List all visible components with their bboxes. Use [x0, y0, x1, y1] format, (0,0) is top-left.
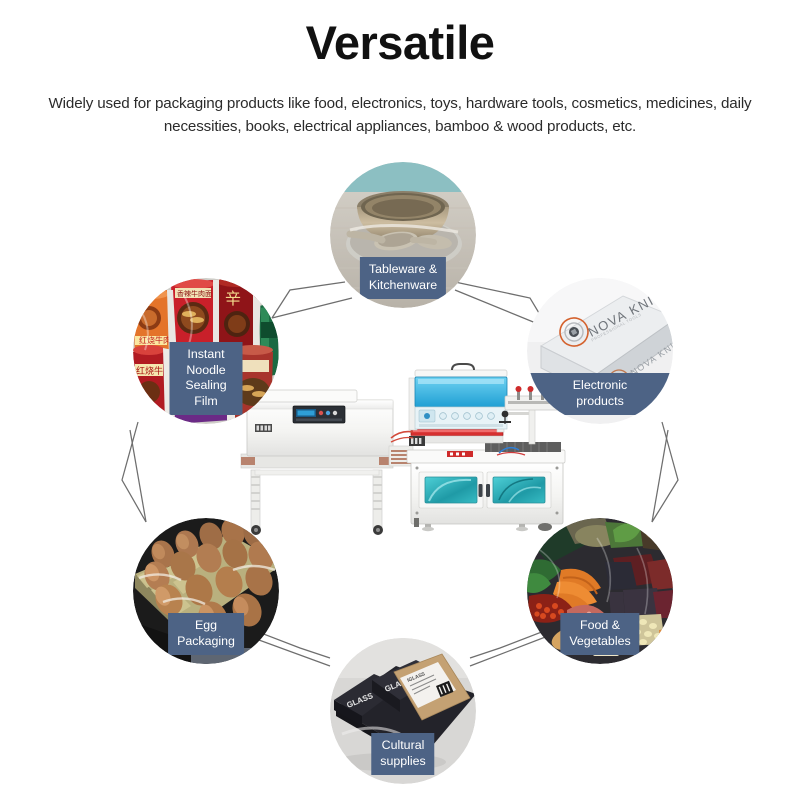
machine-illustration [233, 358, 568, 538]
versatile-infographic-page: Versatile Widely used for packaging prod… [0, 0, 800, 800]
node-tableware-label: Tableware & Kitchenware [360, 257, 446, 299]
node-egg[interactable]: Egg Packaging [133, 518, 279, 664]
svg-text:红烧牛: 红烧牛 [136, 365, 163, 376]
page-title: Versatile [0, 14, 800, 72]
node-noodle-label: Instant Noodle Sealing Film [170, 342, 243, 415]
node-egg-label: Egg Packaging [168, 613, 244, 655]
svg-text:辛: 辛 [225, 290, 241, 308]
shrink-wrapping-machine [233, 358, 568, 538]
svg-text:香辣牛肉面: 香辣牛肉面 [177, 289, 212, 298]
node-cultural-label: Cultural supplies [371, 733, 434, 775]
node-food[interactable]: Food & Vegetables [527, 518, 673, 664]
page-subtitle: Widely used for packaging products like … [14, 93, 786, 138]
node-noodle[interactable]: 红烧牛肉 香辣牛肉面 辛 [133, 278, 279, 424]
svg-text:红烧牛肉: 红烧牛肉 [139, 335, 171, 345]
node-tableware[interactable]: Tableware & Kitchenware [330, 162, 476, 308]
node-cultural[interactable]: GLASS GLASS IGLASS [330, 638, 476, 784]
applications-diagram: Tableware & Kitchenware [0, 150, 800, 800]
node-electronic-label: Electronic products [527, 373, 673, 415]
node-food-label: Food & Vegetables [560, 613, 639, 655]
node-electronic[interactable]: NOVA KNIFE PROFESSIONAL TOOLS NOVA KNIFE [527, 278, 673, 424]
